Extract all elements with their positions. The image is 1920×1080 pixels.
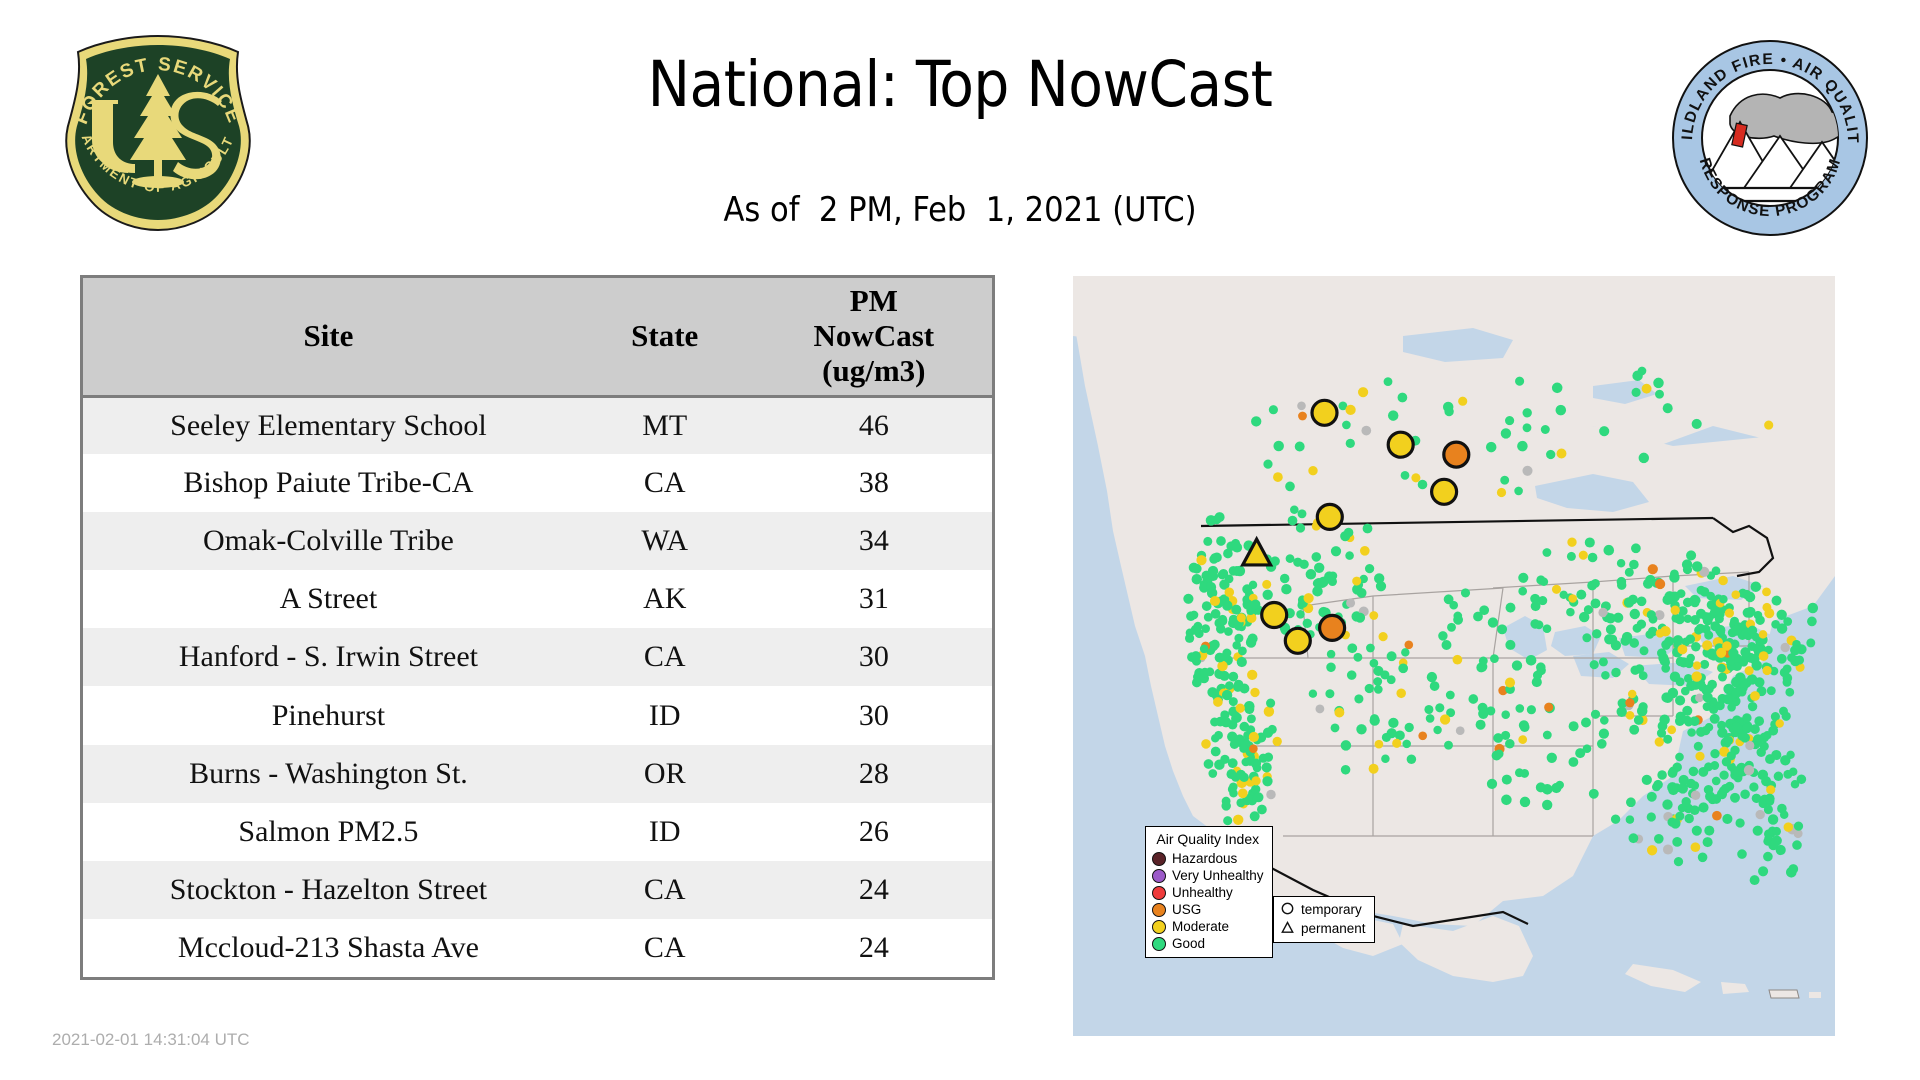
monitor-dot: [1479, 657, 1488, 666]
table-header-row: Site State PM NowCast (ug/m3): [83, 278, 992, 396]
top-site-marker[interactable]: [1262, 603, 1287, 628]
monitor-dot: [1640, 646, 1649, 655]
monitor-dot: [1219, 671, 1229, 681]
monitor-dot: [1262, 776, 1272, 786]
monitor-dot: [1552, 383, 1563, 394]
monitor-dot: [1440, 714, 1450, 724]
monitor-dot: [1597, 739, 1607, 749]
site-cell: Salmon PM2.5: [83, 803, 574, 861]
monitor-dot: [1704, 826, 1714, 836]
monitor-dot: [1717, 721, 1726, 730]
top-site-marker[interactable]: [1444, 442, 1469, 467]
aqi-legend-row: Moderate: [1152, 918, 1264, 935]
monitor-dot: [1192, 564, 1202, 574]
aqi-legend-label: Hazardous: [1172, 852, 1237, 866]
national-aqi-map[interactable]: Air Quality Index HazardousVery Unhealth…: [1073, 276, 1835, 1036]
monitor-dot: [1444, 594, 1454, 604]
monitor-dot: [1296, 523, 1305, 532]
table-row: Omak-Colville TribeWA34: [83, 512, 992, 570]
monitor-dot: [1249, 581, 1258, 590]
monitor-dot: [1611, 815, 1620, 824]
monitor-dot: [1266, 790, 1275, 799]
monitor-dot: [1388, 410, 1398, 420]
top-site-marker[interactable]: [1317, 504, 1342, 529]
monitor-dot: [1223, 816, 1232, 825]
monitor-dot: [1780, 810, 1789, 819]
monitor-dot: [1702, 692, 1712, 702]
monitor-dot: [1662, 799, 1672, 809]
monitor-dot: [1718, 672, 1727, 681]
monitor-dot: [1530, 594, 1540, 604]
monitor-dot: [1670, 818, 1680, 828]
monitor-dot: [1691, 842, 1701, 852]
monitor-dot: [1726, 657, 1735, 666]
monitor-dot: [1692, 596, 1700, 604]
monitor-dot: [1582, 633, 1591, 642]
monitor-dot: [1745, 592, 1755, 602]
monitor-dot: [1655, 737, 1664, 746]
monitor-dot: [1211, 609, 1221, 619]
monitor-dot: [1575, 748, 1585, 758]
monitor-dot: [1200, 668, 1209, 677]
site-cell: Bishop Paiute Tribe-CA: [83, 454, 574, 512]
monitor-dot: [1522, 408, 1531, 417]
monitor-dot: [1684, 674, 1693, 683]
monitor-dot: [1764, 608, 1774, 618]
monitor-dot: [1218, 616, 1227, 625]
monitor-dot: [1606, 624, 1616, 634]
table-row: Mccloud-213 Shasta AveCA24: [83, 919, 992, 977]
monitor-dot: [1373, 677, 1382, 686]
monitor-dot: [1806, 638, 1815, 647]
monitor-dot: [1235, 734, 1245, 744]
monitor-dot: [1569, 721, 1579, 731]
monitor-dot: [1730, 793, 1740, 803]
monitor-dot: [1401, 648, 1409, 656]
state-cell: WA: [574, 512, 756, 570]
value-cell: 26: [756, 803, 992, 861]
monitor-dot: [1202, 601, 1212, 611]
monitor-dot: [1306, 569, 1317, 580]
monitor-dot: [1712, 777, 1721, 786]
monitor-dot: [1751, 581, 1762, 592]
monitor-dot: [1591, 598, 1601, 608]
monitor-dot: [1781, 643, 1790, 652]
monitor-dot: [1190, 611, 1199, 620]
monitor-dot: [1727, 703, 1736, 712]
monitor-dot: [1244, 704, 1254, 714]
monitor-dot: [1703, 837, 1713, 847]
monitor-dot: [1398, 663, 1408, 673]
monitor-dot: [1453, 655, 1463, 665]
monitor-dot: [1599, 657, 1608, 666]
top-site-marker[interactable]: [1388, 432, 1413, 457]
monitor-dot: [1288, 516, 1298, 526]
monitor-dot: [1398, 393, 1408, 403]
monitor-dot: [1637, 596, 1647, 606]
monitor-dot: [1358, 387, 1368, 397]
monitor-dot: [1719, 770, 1728, 779]
monitor-dot: [1637, 706, 1648, 717]
monitor-dot: [1379, 632, 1388, 641]
monitor-dot: [1325, 689, 1334, 698]
monitor-dot: [1250, 811, 1260, 821]
value-cell: 24: [756, 861, 992, 919]
monitor-dot: [1418, 480, 1428, 490]
monitor-dot: [1732, 722, 1741, 731]
monitor-dot: [1233, 815, 1243, 825]
monitor-dot: [1768, 814, 1778, 824]
monitor-dot: [1342, 421, 1351, 430]
top-site-marker[interactable]: [1285, 628, 1310, 653]
monitor-dot: [1543, 731, 1552, 740]
aqi-swatch-icon: [1152, 869, 1166, 883]
monitor-dot: [1523, 423, 1532, 432]
monitor-dot: [1527, 705, 1536, 714]
top-site-marker[interactable]: [1312, 400, 1337, 425]
monitor-dot: [1719, 786, 1728, 795]
monitor-dot: [1759, 651, 1769, 661]
monitor-dot: [1225, 681, 1234, 690]
monitor-dot: [1191, 625, 1201, 635]
monitor-dot: [1772, 596, 1782, 606]
monitor-dot: [1659, 714, 1670, 725]
monitor-dot: [1515, 377, 1524, 386]
table-row: Burns - Washington St.OR28: [83, 745, 992, 803]
monitor-dot: [1264, 753, 1273, 762]
monitor-dot: [1694, 742, 1703, 751]
monitor-dot: [1552, 585, 1561, 594]
monitor-dot: [1684, 718, 1693, 727]
monitor-dot: [1723, 694, 1733, 704]
monitor-dot: [1792, 840, 1802, 850]
forest-service-logo: FOREST SERVICE DEPARTMENT OF AGRICULTURE: [58, 30, 258, 235]
legend-label-permanent: permanent: [1301, 922, 1366, 936]
state-cell: CA: [574, 919, 756, 977]
monitor-dot: [1745, 666, 1754, 675]
column-header-site: Site: [83, 278, 574, 396]
monitor-dot: [1783, 770, 1792, 779]
monitor-dot: [1247, 670, 1257, 680]
monitor-dot: [1299, 560, 1308, 569]
state-cell: CA: [574, 628, 756, 686]
value-cell: 31: [756, 570, 992, 628]
monitor-dot: [1591, 579, 1600, 588]
monitor-dot: [1514, 487, 1523, 496]
monitor-dot: [1222, 649, 1231, 658]
monitor-dot: [1401, 471, 1410, 480]
table-row: Hanford - S. Irwin StreetCA30: [83, 628, 992, 686]
monitor-dot: [1722, 814, 1732, 824]
monitor-dot: [1296, 610, 1305, 619]
monitor-dot: [1515, 704, 1524, 713]
monitor-dot: [1774, 772, 1783, 781]
monitor-dot: [1645, 575, 1655, 585]
monitor-dot: [1381, 755, 1390, 764]
monitor-dot: [1551, 783, 1561, 793]
monitor-dot: [1742, 713, 1751, 722]
monitor-dot: [1501, 428, 1511, 438]
monitor-dot: [1185, 634, 1194, 643]
column-header-state: State: [574, 278, 756, 396]
monitor-dot: [1254, 792, 1264, 802]
monitor-dot: [1192, 678, 1202, 688]
monitor-dot: [1691, 671, 1701, 681]
monitor-dot: [1808, 603, 1818, 613]
aqi-legend-label: Good: [1172, 937, 1205, 951]
monitor-dot: [1361, 426, 1371, 436]
aqi-swatch-icon: [1152, 937, 1166, 951]
monitor-dot: [1764, 421, 1773, 430]
monitor-dot: [1290, 506, 1299, 515]
monitor-dot: [1690, 781, 1699, 790]
top-site-marker[interactable]: [1320, 615, 1345, 640]
monitor-dot: [1633, 624, 1642, 633]
value-cell: 30: [756, 686, 992, 744]
monitor-dot: [1753, 826, 1763, 836]
monitor-dot: [1363, 524, 1373, 534]
monitor-dot: [1456, 726, 1465, 735]
monitor-dot: [1433, 726, 1441, 734]
monitor-dot: [1642, 384, 1652, 394]
monitor-dot: [1585, 537, 1595, 547]
monitor-dot: [1308, 466, 1317, 475]
state-cell: OR: [574, 745, 756, 803]
monitor-dot: [1370, 714, 1379, 723]
monitor-dot: [1566, 608, 1575, 617]
monitor-dot: [1756, 810, 1765, 819]
monitor-dot: [1744, 765, 1754, 775]
aqi-legend-row: Good: [1152, 935, 1264, 952]
monitor-dot: [1536, 662, 1546, 672]
circle-icon: [1279, 902, 1295, 918]
monitor-dot: [1505, 678, 1515, 688]
monitor-dot: [1235, 566, 1245, 576]
aqi-legend-label: Unhealthy: [1172, 886, 1233, 900]
monitor-dot: [1500, 476, 1509, 485]
monitor-dot: [1522, 466, 1532, 476]
monitor-dot: [1384, 377, 1393, 386]
top-site-marker[interactable]: [1432, 479, 1457, 504]
monitor-dot: [1257, 805, 1267, 815]
monitor-dot: [1632, 370, 1642, 380]
monitor-dot: [1369, 611, 1378, 620]
monitor-dot: [1663, 403, 1673, 413]
monitor-dot: [1766, 785, 1775, 794]
monitor-dot: [1435, 703, 1444, 712]
monitor-dot: [1557, 449, 1567, 459]
monitor-dot: [1251, 599, 1261, 609]
monitor-dot: [1376, 581, 1386, 591]
monitor-dot: [1749, 782, 1758, 791]
monitor-dot: [1718, 576, 1728, 586]
monitor-dot: [1645, 630, 1654, 639]
monitor-dot: [1704, 785, 1713, 794]
monitor-dot: [1684, 814, 1693, 823]
monitor-dot: [1536, 782, 1546, 792]
monitor-dot: [1273, 472, 1283, 482]
monitor-dot: [1375, 740, 1384, 749]
monitor-dot: [1461, 588, 1470, 597]
monitor-dot: [1599, 728, 1609, 738]
monitor-dot: [1658, 653, 1668, 663]
monitor-dot: [1671, 606, 1680, 615]
monitor-dot: [1263, 590, 1273, 600]
table-row: PinehurstID30: [83, 686, 992, 744]
monitor-dot: [1647, 792, 1657, 802]
monitor-dot: [1696, 624, 1706, 634]
monitor-dot: [1396, 689, 1406, 699]
value-cell: 34: [756, 512, 992, 570]
monitor-dot: [1692, 826, 1702, 836]
monitor-dot: [1298, 509, 1307, 518]
monitor-dot: [1369, 764, 1379, 774]
monitor-dot: [1719, 595, 1727, 603]
monitor-dot: [1453, 615, 1463, 625]
monitor-dot: [1731, 625, 1741, 635]
monitor-dot: [1630, 665, 1639, 674]
table-row: A StreetAK31: [83, 570, 992, 628]
aqi-legend-row: Unhealthy: [1152, 884, 1264, 901]
monitor-dot: [1683, 598, 1693, 608]
site-cell: Burns - Washington St.: [83, 745, 574, 803]
monitor-dot: [1304, 593, 1314, 603]
monitor-dot: [1556, 405, 1567, 416]
monitor-dot: [1309, 689, 1317, 697]
monitor-dot: [1682, 797, 1691, 806]
monitor-dot: [1542, 548, 1551, 557]
monitor-dot: [1668, 688, 1678, 698]
monitor-dot: [1505, 640, 1515, 650]
monitor-dot: [1732, 687, 1742, 697]
table-row: Bishop Paiute Tribe-CACA38: [83, 454, 992, 512]
monitor-dot: [1346, 598, 1355, 607]
monitor-dot: [1639, 453, 1649, 463]
state-cell: MT: [574, 396, 756, 454]
monitor-dot: [1251, 776, 1260, 785]
legend-row-temporary: temporary: [1279, 900, 1366, 919]
monitor-dot: [1768, 726, 1778, 736]
monitor-dot: [1540, 577, 1549, 586]
monitor-dot: [1617, 581, 1626, 590]
monitor-dot: [1518, 735, 1527, 744]
value-cell: 28: [756, 745, 992, 803]
monitor-dot: [1629, 725, 1639, 735]
aqi-legend-row: USG: [1152, 901, 1264, 918]
monitor-dot: [1684, 615, 1692, 623]
monitor-dot: [1238, 788, 1248, 798]
monitor-dot: [1712, 566, 1721, 575]
monitor-dot: [1250, 688, 1259, 697]
monitor-dot: [1740, 647, 1750, 657]
monitor-dot: [1687, 728, 1696, 737]
monitor-dot: [1341, 765, 1351, 775]
monitor-dot: [1427, 672, 1437, 682]
monitor-dot: [1756, 748, 1765, 757]
monitor-dot: [1576, 590, 1586, 600]
aqi-legend-row: Hazardous: [1152, 850, 1264, 867]
monitor-dot: [1600, 716, 1609, 725]
monitor-dot: [1444, 407, 1453, 416]
monitor-dot: [1704, 631, 1713, 640]
monitor-dot: [1676, 712, 1686, 722]
monitor-dot: [1204, 759, 1214, 769]
monitor-dot: [1236, 704, 1245, 713]
monitor-dot: [1758, 866, 1768, 876]
monitor-dot: [1581, 718, 1591, 728]
monitor-dot: [1542, 800, 1552, 810]
monitor-dot: [1677, 644, 1687, 654]
state-cell: ID: [574, 803, 756, 861]
monitor-dot: [1712, 811, 1722, 821]
monitor-dot: [1733, 768, 1742, 777]
monitor-dot: [1208, 566, 1218, 576]
state-cell: AK: [574, 570, 756, 628]
monitor-dot: [1748, 626, 1758, 636]
monitor-dot: [1486, 442, 1497, 453]
monitor-dot: [1702, 612, 1711, 621]
monitor-dot: [1672, 837, 1682, 847]
monitor-dot: [1354, 694, 1363, 703]
monitor-dot: [1654, 834, 1664, 844]
monitor-dot: [1303, 619, 1312, 628]
monitor-dot: [1497, 488, 1506, 497]
monitor-dot: [1262, 762, 1272, 772]
monitor-dot: [1678, 783, 1688, 793]
monitor-dot: [1520, 797, 1530, 807]
monitor-dot: [1649, 615, 1658, 624]
monitor-dot: [1698, 853, 1708, 863]
monitor-dot: [1592, 629, 1601, 638]
monitor-dot: [1785, 688, 1794, 697]
monitor-dot: [1686, 634, 1696, 644]
monitor-dot: [1183, 594, 1193, 604]
monitor-dot: [1295, 442, 1305, 452]
monitor-dot: [1754, 677, 1764, 687]
monitor-dot: [1632, 388, 1641, 397]
monitor-dot: [1200, 645, 1209, 654]
monitor-dot: [1518, 573, 1528, 583]
site-cell: Omak-Colville Tribe: [83, 512, 574, 570]
monitor-dot: [1262, 580, 1271, 589]
monitor-dot: [1664, 637, 1674, 647]
value-cell: 30: [756, 628, 992, 686]
state-cell: CA: [574, 861, 756, 919]
monitor-dot: [1315, 704, 1324, 713]
monitor-dot: [1807, 617, 1817, 627]
monitor-dot: [1642, 775, 1652, 785]
monitor-dot: [1559, 591, 1567, 599]
table-row: Seeley Elementary SchoolMT46: [83, 396, 992, 454]
monitor-dot: [1221, 717, 1231, 727]
monitor-dot: [1591, 710, 1600, 719]
aqi-legend-row: Very Unhealthy: [1152, 867, 1264, 884]
monitor-dot: [1605, 613, 1615, 623]
monitor-dot: [1690, 805, 1700, 815]
monitor-dot: [1476, 720, 1486, 730]
monitor-dot: [1210, 596, 1220, 606]
monitor-dot: [1653, 780, 1662, 789]
monitor-dot: [1533, 671, 1542, 680]
monitor-dot: [1196, 555, 1206, 565]
aqi-legend: Air Quality Index HazardousVery Unhealth…: [1145, 826, 1273, 958]
monitor-dot: [1695, 752, 1704, 761]
monitor-dot: [1232, 542, 1242, 552]
monitor-dot: [1505, 739, 1515, 749]
monitor-dot: [1777, 610, 1787, 620]
monitor-dot: [1229, 789, 1238, 798]
monitor-dot: [1731, 590, 1740, 599]
